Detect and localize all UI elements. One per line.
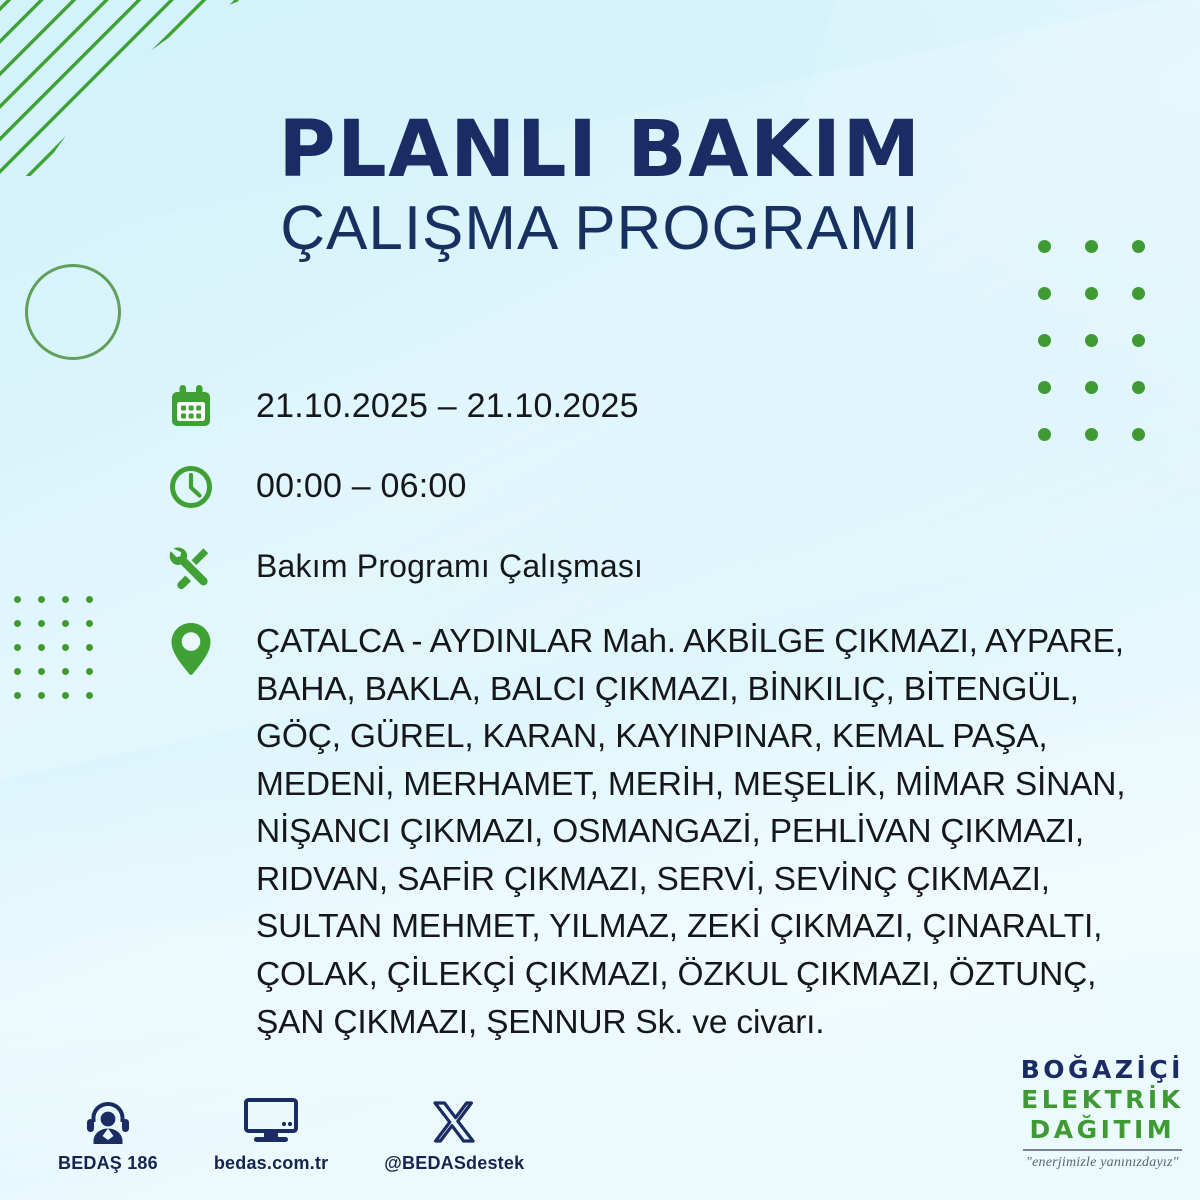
contact-website-label: bedas.com.tr bbox=[214, 1153, 328, 1174]
headset-support-icon bbox=[82, 1095, 134, 1145]
clock-icon bbox=[162, 458, 220, 516]
work-type-text: Bakım Programı Çalışması bbox=[220, 538, 643, 586]
page-subtitle: ÇALIŞMA PROGRAMI bbox=[0, 198, 1200, 260]
poster-header: PLANLI BAKIM ÇALIŞMA PROGRAMI bbox=[0, 112, 1200, 260]
map-pin-icon bbox=[162, 618, 220, 680]
detail-row-time: 00:00 – 06:00 bbox=[162, 458, 1172, 516]
outage-details: 21.10.2025 – 21.10.2025 00:00 – 06:00 bbox=[162, 378, 1172, 1068]
tools-icon bbox=[162, 538, 220, 596]
detail-row-date: 21.10.2025 – 21.10.2025 bbox=[162, 378, 1172, 436]
brand-tagline: "enerjimizle yanınızdayız" bbox=[1021, 1156, 1184, 1170]
contact-website[interactable]: bedas.com.tr bbox=[214, 1095, 328, 1174]
calendar-icon bbox=[162, 378, 220, 436]
contact-social-label: @BEDASdestek bbox=[384, 1153, 524, 1174]
location-text: ÇATALCA - AYDINLAR Mah. AKBİLGE ÇIKMAZI,… bbox=[220, 618, 1172, 1046]
contact-phone-label: BEDAŞ 186 bbox=[58, 1153, 158, 1174]
brand-line-dagitim: DAĞITIM bbox=[1021, 1117, 1184, 1142]
monitor-website-icon bbox=[242, 1095, 300, 1145]
bedas-brand-logo: BOĞAZİÇİ ELEKTRİK DAĞITIM "enerjimizle y… bbox=[1021, 1057, 1184, 1170]
contact-phone[interactable]: BEDAŞ 186 bbox=[58, 1095, 158, 1174]
brand-line-elektrik: ELEKTRİK bbox=[1021, 1087, 1184, 1112]
poster-footer: BEDAŞ 186 bedas.com.tr bbox=[0, 1054, 1200, 1184]
page-title: PLANLI BAKIM bbox=[0, 112, 1200, 188]
brand-divider bbox=[1023, 1149, 1182, 1151]
detail-row-location: ÇATALCA - AYDINLAR Mah. AKBİLGE ÇIKMAZI,… bbox=[162, 618, 1172, 1046]
brand-line-bogazici: BOĞAZİÇİ bbox=[1021, 1057, 1184, 1082]
poster-canvas: PLANLI BAKIM ÇALIŞMA PROGRAMI 21 bbox=[0, 0, 1200, 1200]
time-range-text: 00:00 – 06:00 bbox=[220, 458, 467, 507]
circle-outline-decoration bbox=[25, 264, 121, 360]
detail-row-work-type: Bakım Programı Çalışması bbox=[162, 538, 1172, 596]
contact-social[interactable]: @BEDASdestek bbox=[384, 1095, 524, 1174]
dot-grid-left-decoration bbox=[14, 596, 110, 716]
contact-list: BEDAŞ 186 bedas.com.tr bbox=[58, 1095, 524, 1174]
x-twitter-icon bbox=[431, 1095, 477, 1145]
date-range-text: 21.10.2025 – 21.10.2025 bbox=[220, 378, 639, 427]
